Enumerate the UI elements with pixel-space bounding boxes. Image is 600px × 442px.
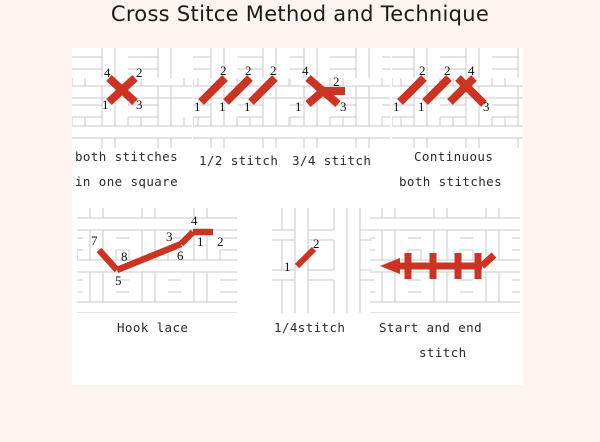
stitch-number: 3 <box>483 100 490 113</box>
stitch-number: 2 <box>217 235 224 248</box>
stitch-number: 6 <box>177 249 184 262</box>
stitch-number: 3 <box>136 98 143 111</box>
stitch-number: 1 <box>197 235 204 248</box>
cross-stitch-thread <box>72 48 192 148</box>
stitch-number: 2 <box>444 64 451 77</box>
figure-continuous-both-stitches: 2 2 4 1 1 3 Continuous both stitches <box>392 48 523 193</box>
weaving-tail-arrow <box>370 208 520 313</box>
continuous-stitch-threads <box>392 48 523 148</box>
stitch-number: 1 <box>102 98 109 111</box>
stitch-number: 2 <box>220 64 227 77</box>
stitch-number: 2 <box>136 66 143 79</box>
figure-hook-lace: 7 8 5 3 6 4 1 2 Hook lace <box>77 208 237 353</box>
stitch-number: 4 <box>302 64 309 77</box>
stitch-number: 7 <box>91 234 98 247</box>
figure-caption: 1/2 stitch <box>199 153 278 168</box>
figure-half-stitch: 2 2 2 1 1 1 1/2 stitch <box>193 48 298 173</box>
figure-caption: 3/4 stitch <box>292 153 371 168</box>
stitch-number: 1 <box>295 100 302 113</box>
figure-caption: 1/4stitch <box>274 320 345 335</box>
diagram-page: Cross Stitce Method and Technique <box>0 0 600 442</box>
stitch-number: 4 <box>104 66 111 79</box>
figure-start-and-end-stitch: Start and end stitch <box>370 208 520 373</box>
figure-three-quarter-stitch: 4 2 1 3 3/4 stitch <box>290 48 390 173</box>
page-title: Cross Stitce Method and Technique <box>0 2 600 26</box>
stitch-number: 5 <box>115 274 122 287</box>
stitch-number: 1 <box>418 100 425 113</box>
figure-quarter-stitch: 1 2 1/4stitch <box>272 208 372 353</box>
stitch-number: 1 <box>284 260 291 273</box>
hook-lace-thread-path <box>77 208 237 313</box>
stitch-number: 2 <box>313 237 320 250</box>
stitch-number: 3 <box>166 230 173 243</box>
figure-caption: Continuous <box>414 149 493 164</box>
stitch-number: 1 <box>393 100 400 113</box>
figure-caption: stitch <box>419 345 467 360</box>
stitch-number: 2 <box>270 64 277 77</box>
diagram-panel: 4 2 1 3 both stitches in one square <box>72 48 523 385</box>
figure-caption: both stitches <box>75 149 178 164</box>
stitch-number: 1 <box>219 100 226 113</box>
stitch-number: 2 <box>419 64 426 77</box>
figure-caption: in one square <box>75 174 178 189</box>
figure-caption: both stitches <box>399 174 502 189</box>
stitch-number: 1 <box>244 100 251 113</box>
figure-caption: Start and end <box>379 320 482 335</box>
stitch-number: 3 <box>340 100 347 113</box>
figure-caption: Hook lace <box>117 320 188 335</box>
stitch-number: 4 <box>191 214 198 227</box>
stitch-number: 2 <box>333 75 340 88</box>
stitch-number: 2 <box>245 64 252 77</box>
stitch-number: 8 <box>121 250 128 263</box>
stitch-number: 4 <box>468 64 475 77</box>
figure-full-cross-stitch: 4 2 1 3 both stitches in one square <box>72 48 192 193</box>
stitch-number: 1 <box>194 100 201 113</box>
